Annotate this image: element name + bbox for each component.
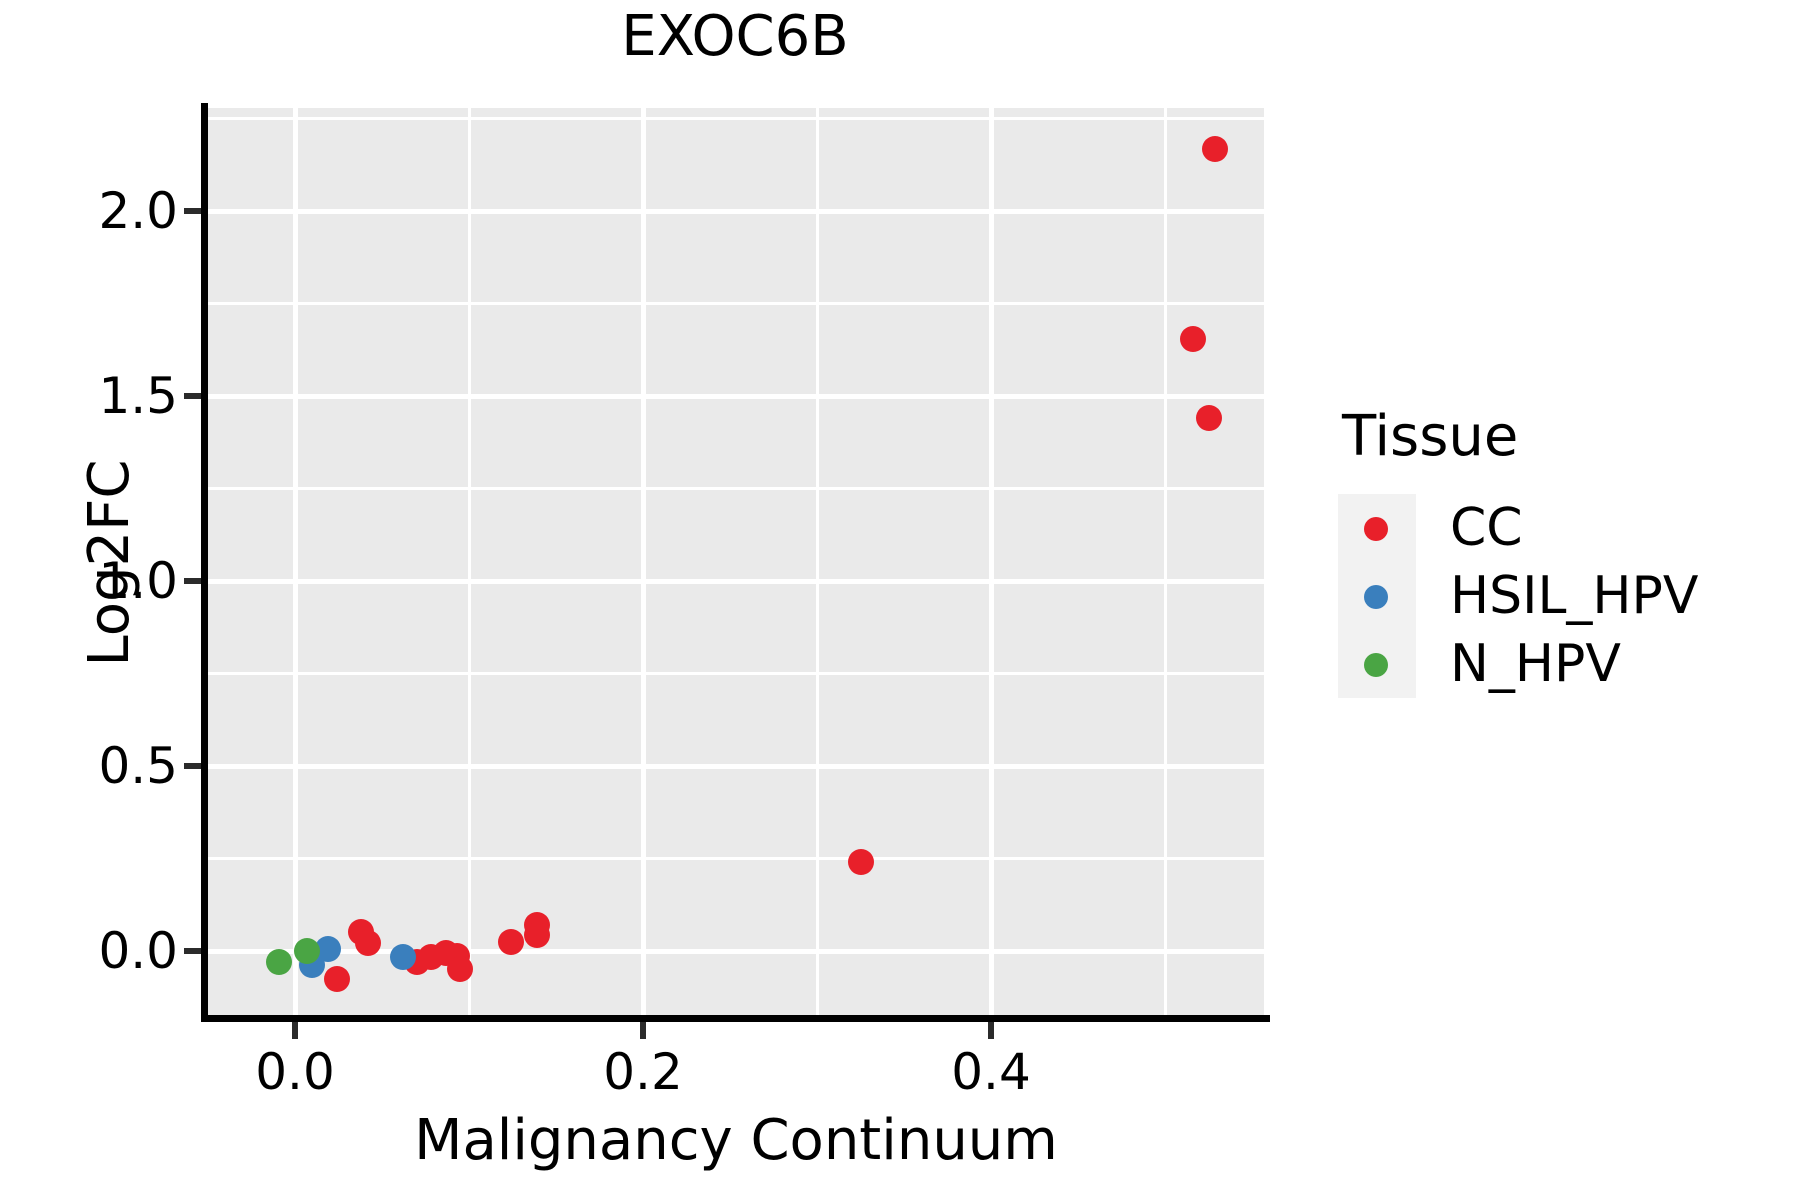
legend-item-cc[interactable]: CC: [1338, 494, 1778, 562]
x-axis-label: Malignancy Continuum: [208, 1108, 1264, 1174]
gridline-minor-horizontal: [208, 487, 1264, 490]
y-axis-line: [201, 103, 208, 1020]
data-point: [266, 949, 292, 975]
y-axis-label: Log2FC: [77, 213, 143, 913]
legend-item-label: HSIL_HPV: [1450, 568, 1698, 624]
legend-dot-icon: [1364, 585, 1388, 609]
data-point: [1180, 326, 1206, 352]
page-title: EXOC6B: [205, 2, 1265, 72]
gridline-major-vertical: [293, 108, 298, 1015]
legend-title: Tissue: [1342, 404, 1778, 470]
x-tick-label: 0.2: [543, 1044, 743, 1100]
y-tick-label: 0.0: [98, 926, 178, 976]
legend-key: [1338, 494, 1416, 562]
y-tick-mark: [184, 948, 201, 954]
legend-items: CCHSIL_HPVN_HPV: [1338, 494, 1778, 698]
x-tick-label: 0.4: [891, 1044, 1091, 1100]
data-point: [390, 944, 416, 970]
gridline-minor-horizontal: [208, 117, 1264, 120]
legend-item-label: CC: [1450, 500, 1523, 556]
x-tick-mark: [292, 1022, 298, 1039]
legend-key: [1338, 630, 1416, 698]
gridline-major-horizontal: [208, 394, 1264, 399]
data-point: [294, 938, 320, 964]
y-tick-mark: [184, 393, 201, 399]
x-tick-mark: [988, 1022, 994, 1039]
legend-dot-icon: [1364, 653, 1388, 677]
gridline-minor-horizontal: [208, 302, 1264, 305]
legend-key: [1338, 562, 1416, 630]
legend-dot-icon: [1364, 517, 1388, 541]
legend-item-n-hpv[interactable]: N_HPV: [1338, 630, 1778, 698]
gridline-major-horizontal: [208, 579, 1264, 584]
y-tick-mark: [184, 763, 201, 769]
gridline-minor-vertical: [468, 108, 471, 1015]
gridline-major-vertical: [989, 108, 994, 1015]
gridline-minor-horizontal: [208, 672, 1264, 675]
x-tick-label: 0.0: [195, 1044, 395, 1100]
gridline-major-horizontal: [208, 209, 1264, 214]
legend: Tissue CCHSIL_HPVN_HPV: [1338, 404, 1778, 698]
gridline-minor-vertical: [1164, 108, 1167, 1015]
data-point: [848, 849, 874, 875]
scatter-plot-figure: EXOC6B 0.00.51.01.52.0 0.00.20.4 Maligna…: [0, 0, 1800, 1200]
y-tick-mark: [184, 578, 201, 584]
x-axis-line: [201, 1015, 1270, 1022]
gridline-minor-horizontal: [208, 857, 1264, 860]
plot-panel: [208, 108, 1264, 1015]
gridline-major-horizontal: [208, 764, 1264, 769]
y-tick-mark: [184, 208, 201, 214]
legend-item-hsil-hpv[interactable]: HSIL_HPV: [1338, 562, 1778, 630]
data-point: [355, 930, 381, 956]
gridline-minor-vertical: [816, 108, 819, 1015]
gridline-major-vertical: [641, 108, 646, 1015]
data-point: [524, 922, 550, 948]
data-point: [1196, 405, 1222, 431]
legend-item-label: N_HPV: [1450, 636, 1621, 692]
data-point: [1202, 136, 1228, 162]
data-point: [324, 966, 350, 992]
x-tick-mark: [640, 1022, 646, 1039]
data-point: [498, 929, 524, 955]
